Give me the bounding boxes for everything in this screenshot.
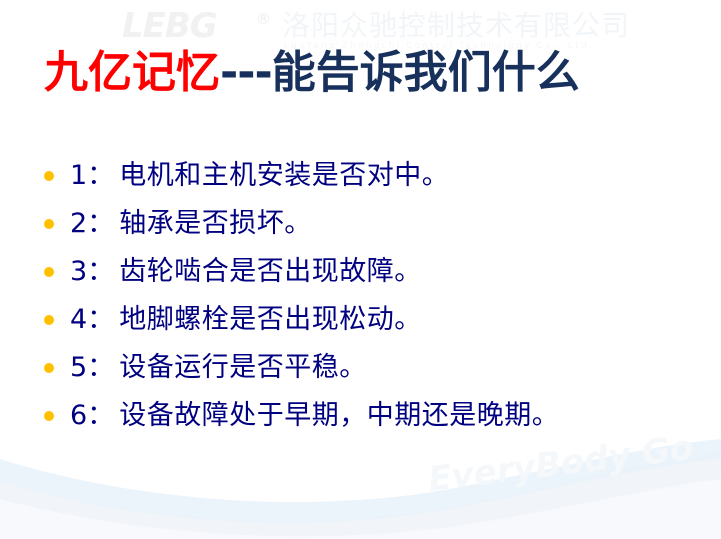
- list-item: 5： 设备运行是否平稳。: [40, 344, 690, 392]
- list-item-number: 2：: [70, 208, 114, 239]
- bullet-dot-icon: [44, 267, 54, 277]
- bullet-dot-icon: [44, 171, 54, 181]
- company-name-chinese: 洛阳众驰控制技术有限公司: [282, 11, 630, 42]
- registered-trademark-icon: ®: [256, 12, 271, 27]
- list-item-label: 电机和主机安装是否对中。: [119, 160, 449, 191]
- slide-title: 九亿记忆---能告诉我们什么: [44, 51, 580, 95]
- wave-shape-pale: [0, 479, 721, 539]
- wave-decoration: EveryBody Go: [0, 429, 721, 539]
- list-item: 3： 齿轮啮合是否出现故障。: [40, 248, 690, 296]
- list-item-label: 设备故障处于早期，中期还是晚期。: [119, 400, 559, 431]
- list-item-label: 设备运行是否平稳。: [119, 352, 367, 383]
- lebg-logo-icon: LEBG: [122, 9, 217, 43]
- list-item-label: 地脚螺栓是否出现松动。: [119, 304, 422, 335]
- list-item-label: 齿轮啮合是否出现故障。: [119, 256, 422, 287]
- list-item: 1： 电机和主机安装是否对中。: [40, 152, 690, 200]
- list-item-number: 3：: [70, 256, 114, 287]
- bullet-list: 1： 电机和主机安装是否对中。 2： 轴承是否损坏。 3： 齿轮啮合是否出现故障…: [40, 152, 690, 440]
- slide-canvas: EveryBody Go LEBG ® 洛阳众驰控制技术有限公司 LuoYang…: [0, 0, 721, 539]
- bullet-dot-icon: [44, 219, 54, 229]
- list-item-number: 4：: [70, 304, 114, 335]
- list-item-number: 6：: [70, 400, 114, 431]
- bullet-dot-icon: [44, 411, 54, 421]
- list-item: 4： 地脚螺栓是否出现松动。: [40, 296, 690, 344]
- title-separator: ---: [220, 47, 272, 98]
- bullet-dot-icon: [44, 363, 54, 373]
- title-highlight: 九亿记忆: [44, 47, 220, 98]
- wave-shape-blue: [0, 439, 721, 523]
- list-item: 2： 轴承是否损坏。: [40, 200, 690, 248]
- list-item: 6： 设备故障处于早期，中期还是晚期。: [40, 392, 690, 440]
- list-item-label: 轴承是否损坏。: [119, 208, 312, 239]
- title-tail: 能告诉我们什么: [272, 47, 580, 98]
- list-item-number: 1：: [70, 160, 114, 191]
- list-item-number: 5：: [70, 352, 114, 383]
- wave-shape-grey: [0, 451, 721, 539]
- bullet-dot-icon: [44, 315, 54, 325]
